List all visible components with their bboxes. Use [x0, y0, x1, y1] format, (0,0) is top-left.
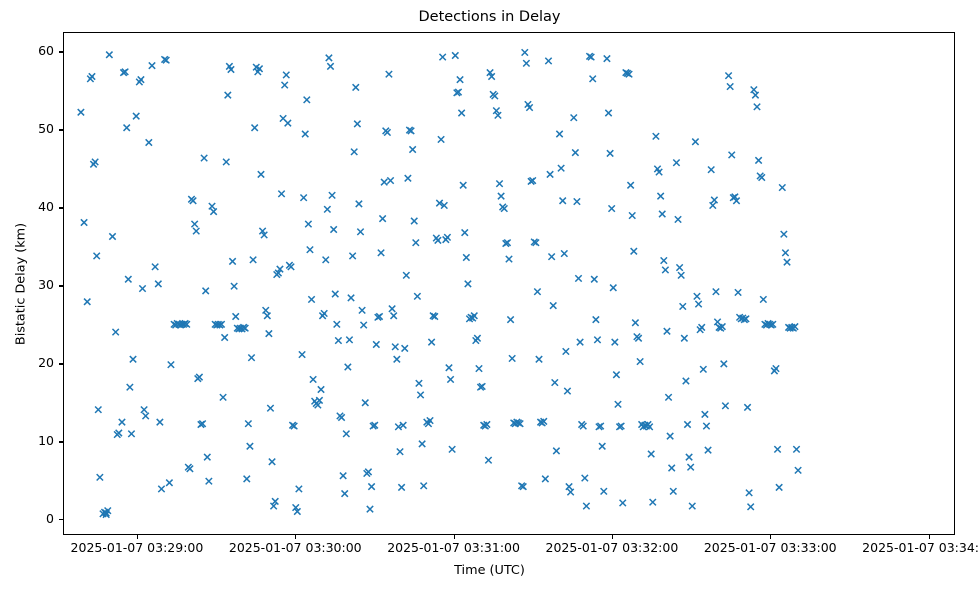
y-tick-mark [59, 285, 63, 286]
x-tick-label: 2025-01-07 03:29:00 [71, 541, 204, 555]
y-tick-mark [59, 441, 63, 442]
y-tick-label: 50 [0, 122, 54, 136]
x-tick-label: 2025-01-07 03:30:00 [229, 541, 362, 555]
x-tick-mark [295, 535, 296, 539]
x-tick-mark [770, 535, 771, 539]
x-tick-label: 2025-01-07 03:32:00 [546, 541, 679, 555]
x-tick-label: 2025-01-07 03:31:00 [387, 541, 520, 555]
x-tick-mark [929, 535, 930, 539]
x-tick-label: 2025-01-07 03:34:00 [862, 541, 979, 555]
y-tick-label: 60 [0, 44, 54, 58]
scatter-series [64, 33, 954, 534]
y-tick-mark [59, 207, 63, 208]
plot-area [63, 32, 955, 535]
x-tick-mark [454, 535, 455, 539]
y-tick-label: 30 [0, 278, 54, 292]
y-tick-mark [59, 129, 63, 130]
y-tick-mark [59, 519, 63, 520]
x-tick-mark [137, 535, 138, 539]
y-tick-label: 20 [0, 356, 54, 370]
y-tick-mark [59, 363, 63, 364]
x-tick-mark [612, 535, 613, 539]
page-title: Detections in Delay [0, 8, 979, 26]
x-tick-label: 2025-01-07 03:33:00 [704, 541, 837, 555]
x-axis-label: Time (UTC) [0, 563, 979, 578]
y-tick-mark [59, 51, 63, 52]
y-tick-label: 10 [0, 434, 54, 448]
y-tick-label: 40 [0, 200, 54, 214]
y-tick-label: 0 [0, 512, 54, 526]
matplotlib-figure: Detections in Delay Bistatic Delay (km) … [0, 0, 979, 590]
